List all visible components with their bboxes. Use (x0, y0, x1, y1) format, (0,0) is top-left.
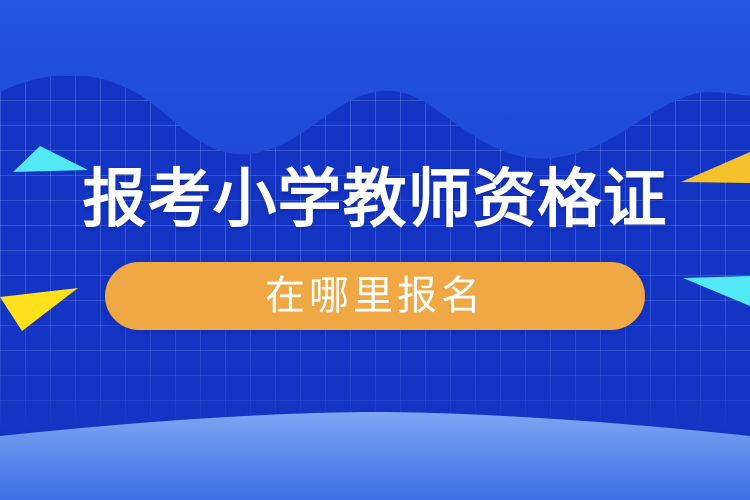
promo-banner: 报考小学教师资格证 在哪里报名 (0, 0, 750, 500)
page-title: 报考小学教师资格证 (0, 158, 750, 240)
banner-content: 报考小学教师资格证 在哪里报名 (0, 0, 750, 500)
subtitle-label: 在哪里报名 (105, 262, 645, 330)
subtitle-pill: 在哪里报名 (105, 262, 645, 330)
